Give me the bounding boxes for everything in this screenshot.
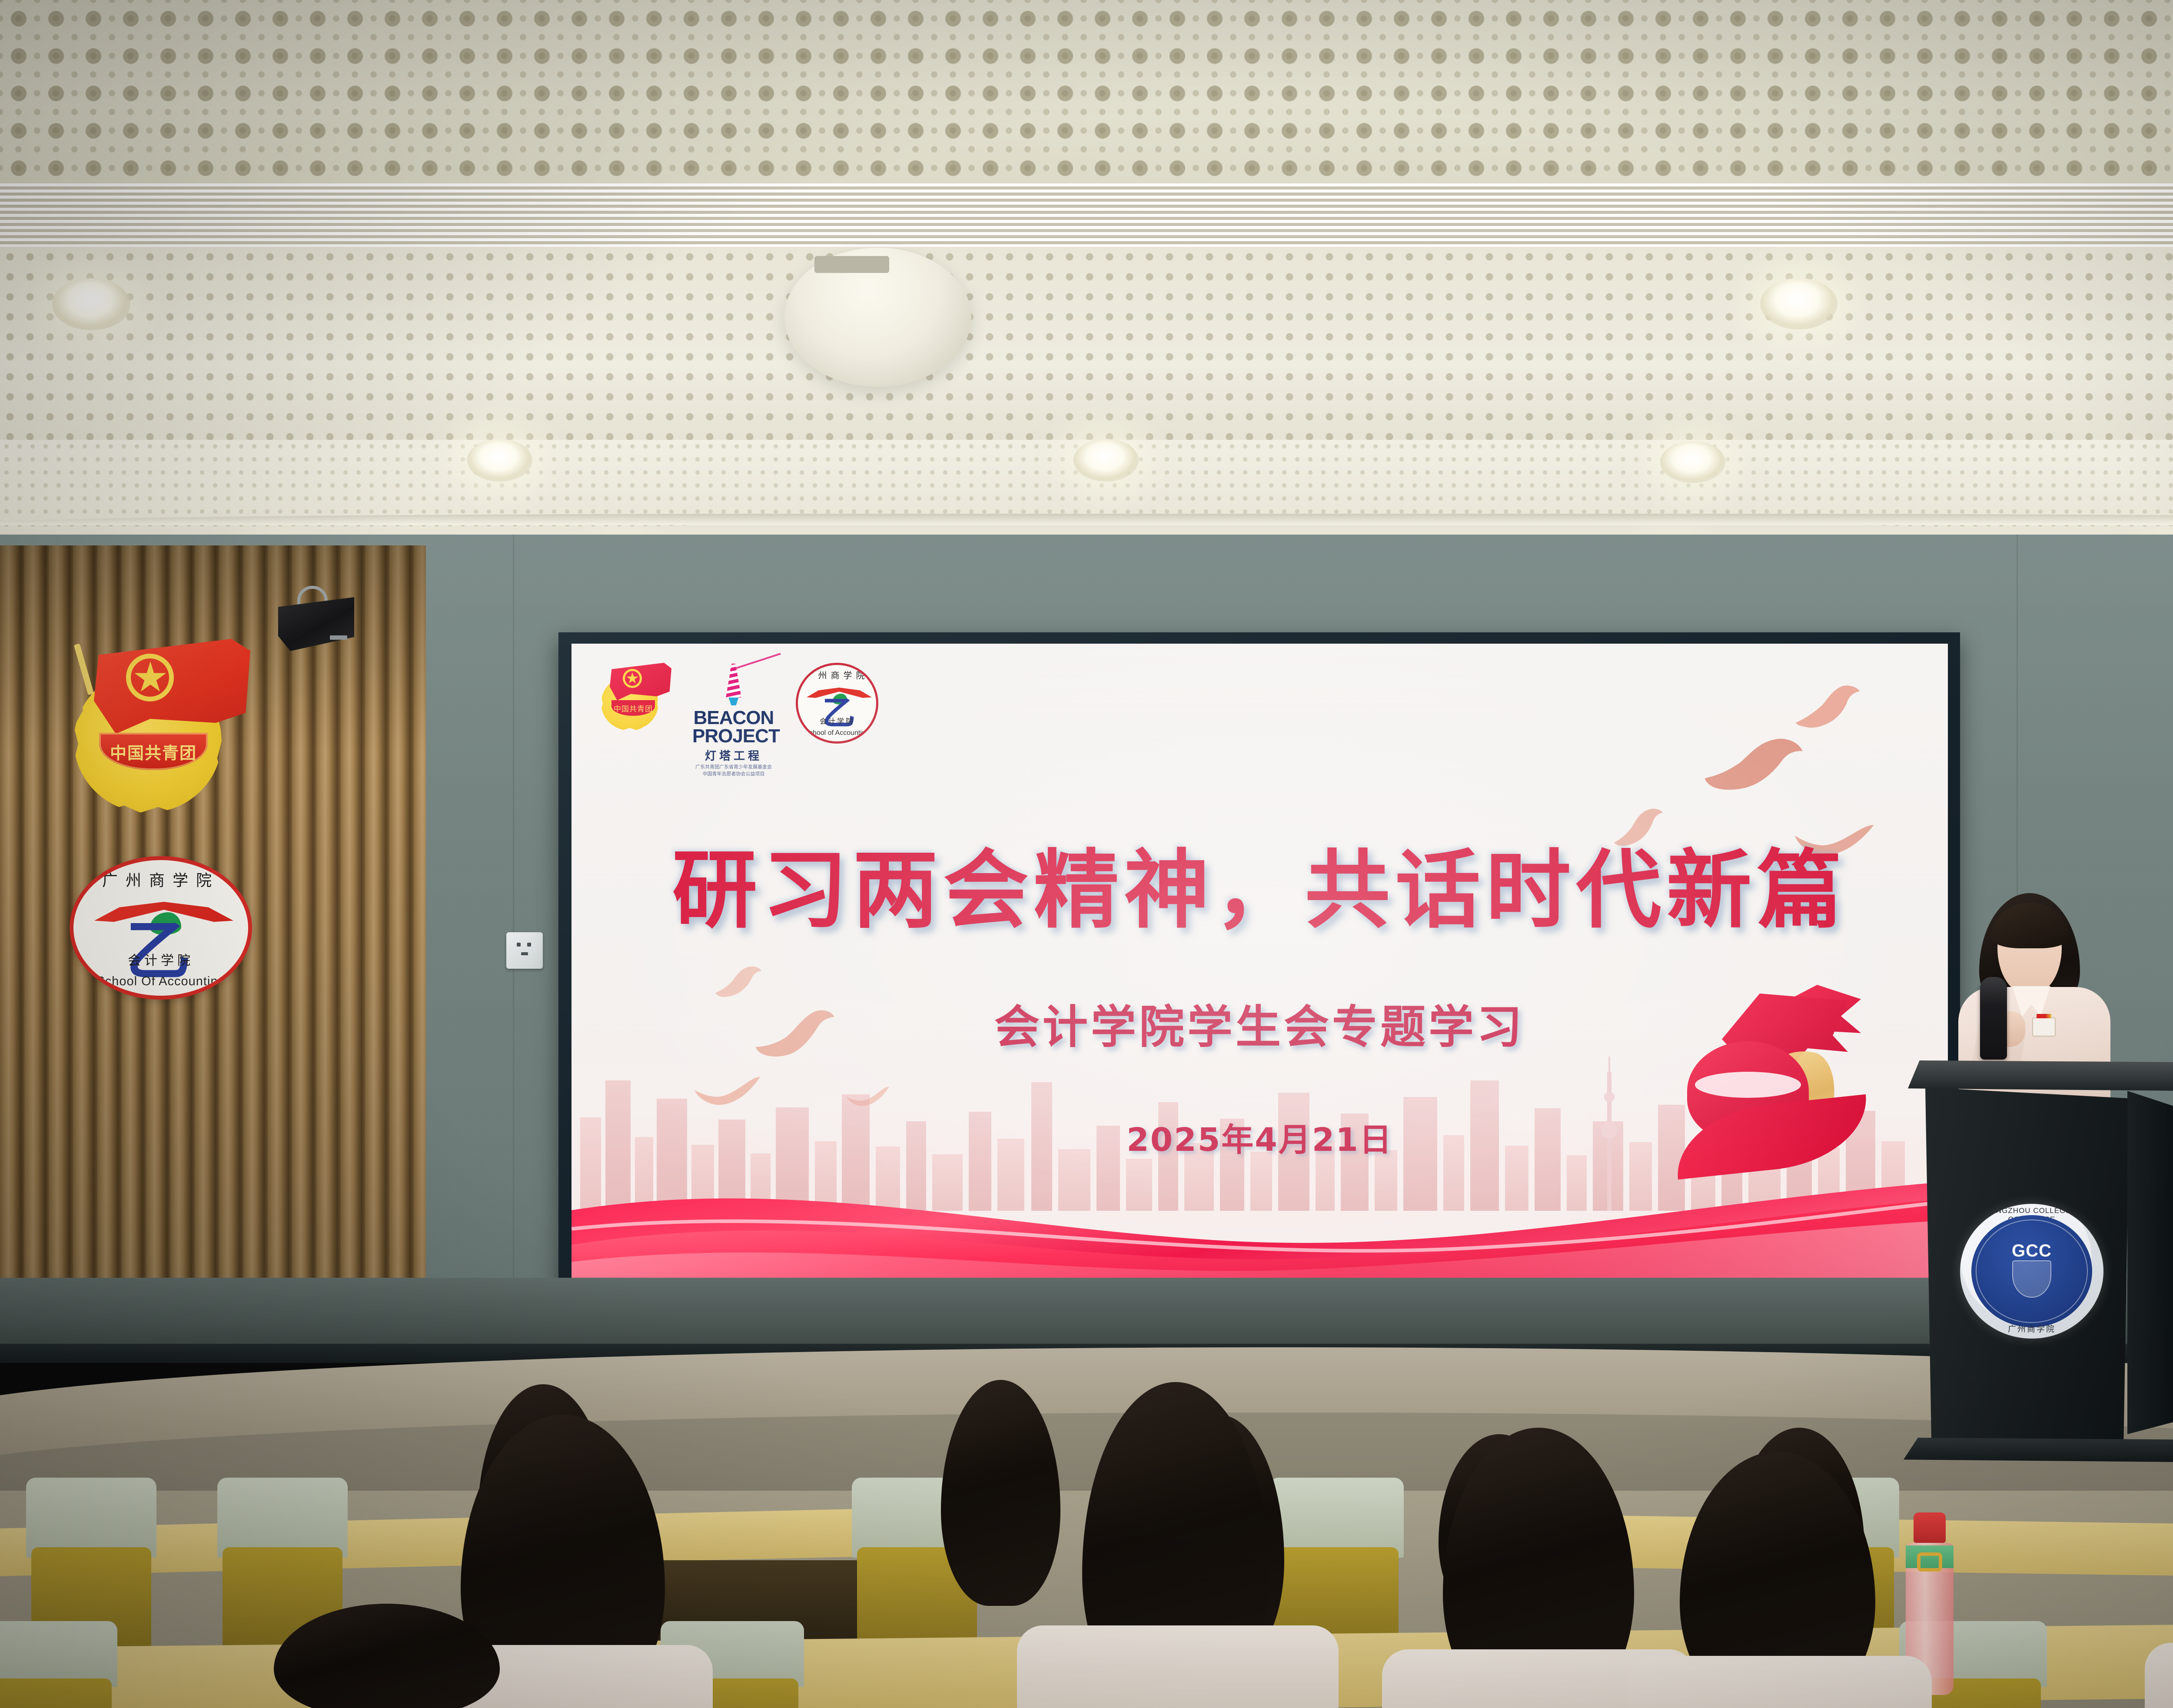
tower-antenna xyxy=(1608,1057,1610,1080)
beacon-en-line2: PROJECT xyxy=(692,727,775,745)
slide-logo-row: 中国共青团 BEACON PROJECT 灯塔工程 广东共青团广东省青少年发展基… xyxy=(598,663,878,745)
lighthouse-base-icon xyxy=(725,698,742,705)
downlight-icon xyxy=(467,439,532,482)
wall-power-socket[interactable] xyxy=(506,932,543,969)
lighthouse-icon xyxy=(721,664,746,698)
led-screen[interactable]: 中国共青团 BEACON PROJECT 灯塔工程 广东共青团广东省青少年发展基… xyxy=(571,644,1948,1298)
socket-slot xyxy=(521,952,528,955)
seat-back xyxy=(0,1621,117,1687)
lion-brow xyxy=(1695,1072,1801,1098)
downlight-icon xyxy=(52,278,130,330)
bottle-strap-icon xyxy=(1917,1552,1942,1572)
seat-back xyxy=(1269,1478,1404,1558)
podium-side-panel xyxy=(2127,1091,2173,1434)
ceiling-upper-panel xyxy=(0,0,2173,187)
shoulders xyxy=(1628,1656,1932,1708)
beacon-tiny-line1: 广东共青团广东省青少年发展基金会 xyxy=(692,764,775,770)
perforation-texture xyxy=(0,0,2173,187)
podium-base xyxy=(1904,1438,2173,1462)
audience-head-foreground xyxy=(274,1604,500,1708)
school-of-accounting-emblem: 广州商学院 乙 会计学院 School Of Accounting xyxy=(70,856,252,1000)
downlight-icon xyxy=(1660,441,1725,483)
college-seal: GUANGZHOU COLLEGE OF COMMERCE GCC 广州商学院 xyxy=(1960,1204,2103,1339)
round-ceiling-light-fixture xyxy=(784,248,971,387)
lectern-podium: GUANGZHOU COLLEGE OF COMMERCE GCC 广州商学院 xyxy=(1925,1060,2173,1452)
beacon-ray-icon xyxy=(730,653,781,671)
wall-speaker-left xyxy=(278,586,354,651)
ceiling-slat-band xyxy=(0,183,2173,249)
slide-emblem-bottom-cn: 会计学院 xyxy=(798,715,876,726)
beacon-tiny-line2: 中国青年志愿者协会公益项目 xyxy=(692,771,775,777)
beacon-cn: 灯塔工程 xyxy=(692,747,775,763)
emblem-bottom-cn: 会计学院 xyxy=(73,950,248,969)
seat-back xyxy=(217,1478,348,1558)
bottle-cap xyxy=(1914,1512,1946,1543)
slide-date: 2025年4月21日 xyxy=(571,1114,1948,1160)
hair xyxy=(274,1604,500,1708)
seal-arc-bottom-text: 广州商学院 xyxy=(1960,1323,2103,1334)
ceiling-soffit-lip xyxy=(0,514,2173,525)
dove-icon xyxy=(711,965,766,1005)
slide-school-of-accounting-logo: 广州商学院 乙 会计学院 School of Accounting xyxy=(796,663,878,744)
audience-head xyxy=(941,1380,1060,1606)
slide-subtitle: 会计学院学生会专题学习 xyxy=(571,1004,1948,1050)
auditorium-seat[interactable] xyxy=(0,1621,117,1708)
socket-slot xyxy=(527,943,531,947)
shoulders xyxy=(1017,1625,1339,1708)
dove-icon xyxy=(1788,681,1868,742)
slide-emblem-ribbon-text: 中国共青团 xyxy=(614,703,653,714)
led-screen-frame: 中国共青团 BEACON PROJECT 灯塔工程 广东共青团广东省青少年发展基… xyxy=(558,632,1960,1313)
slide-emblem-top-text: 广州商学院 xyxy=(798,668,876,681)
red-wave-graphic xyxy=(571,1154,1948,1298)
speaker-label xyxy=(330,635,347,640)
slide-emblem-bottom-en: School of Accounting xyxy=(798,729,876,737)
audience-head-foreground xyxy=(1680,1452,1875,1708)
youth-league-emblem: 中国共青团 xyxy=(65,639,252,826)
stage-front-wall xyxy=(0,1278,2173,1352)
speaker-body xyxy=(278,597,354,651)
emblem-ribbon-text: 中国共青团 xyxy=(110,740,197,764)
lecture-hall-scene: 中国共青团 广州商学院 乙 会计学院 School Of Accounting xyxy=(0,0,2173,1708)
emblem-top-text: 广州商学院 xyxy=(73,868,248,891)
seat-back xyxy=(26,1478,156,1558)
microphone-icon xyxy=(1980,977,2007,1060)
dove-icon xyxy=(1700,732,1807,809)
audience-head-foreground xyxy=(1443,1428,1634,1708)
hair xyxy=(941,1380,1060,1606)
ceiling-middle-panel xyxy=(0,247,2173,442)
downlight-icon xyxy=(1760,278,1837,329)
beacon-project-logo: BEACON PROJECT 灯塔工程 广东共青团广东省青少年发展基金会 中国青… xyxy=(692,663,775,777)
seal-initials: GCC xyxy=(1960,1241,2103,1261)
emblem-bottom-en: School Of Accounting xyxy=(73,974,248,989)
name-badge xyxy=(2032,1017,2056,1037)
audience-head-foreground xyxy=(1082,1382,1269,1708)
slide-title: 研习两会精神，共话时代新篇 xyxy=(571,848,1948,933)
slide-youth-league-logo: 中国共青团 xyxy=(598,663,671,731)
beacon-en-line1: BEACON xyxy=(692,709,775,727)
tower-sphere xyxy=(1604,1092,1615,1102)
badge-ribbon xyxy=(2037,1014,2051,1018)
downlight-icon xyxy=(1073,439,1139,482)
podium-top xyxy=(1908,1060,2173,1091)
wall-emblem-group: 中国共青团 广州商学院 乙 会计学院 School Of Accounting xyxy=(65,639,282,1108)
perforation-texture xyxy=(0,247,2173,442)
flag-pole-icon xyxy=(74,643,94,695)
seat-cushion xyxy=(0,1678,112,1708)
socket-slot xyxy=(517,943,521,947)
